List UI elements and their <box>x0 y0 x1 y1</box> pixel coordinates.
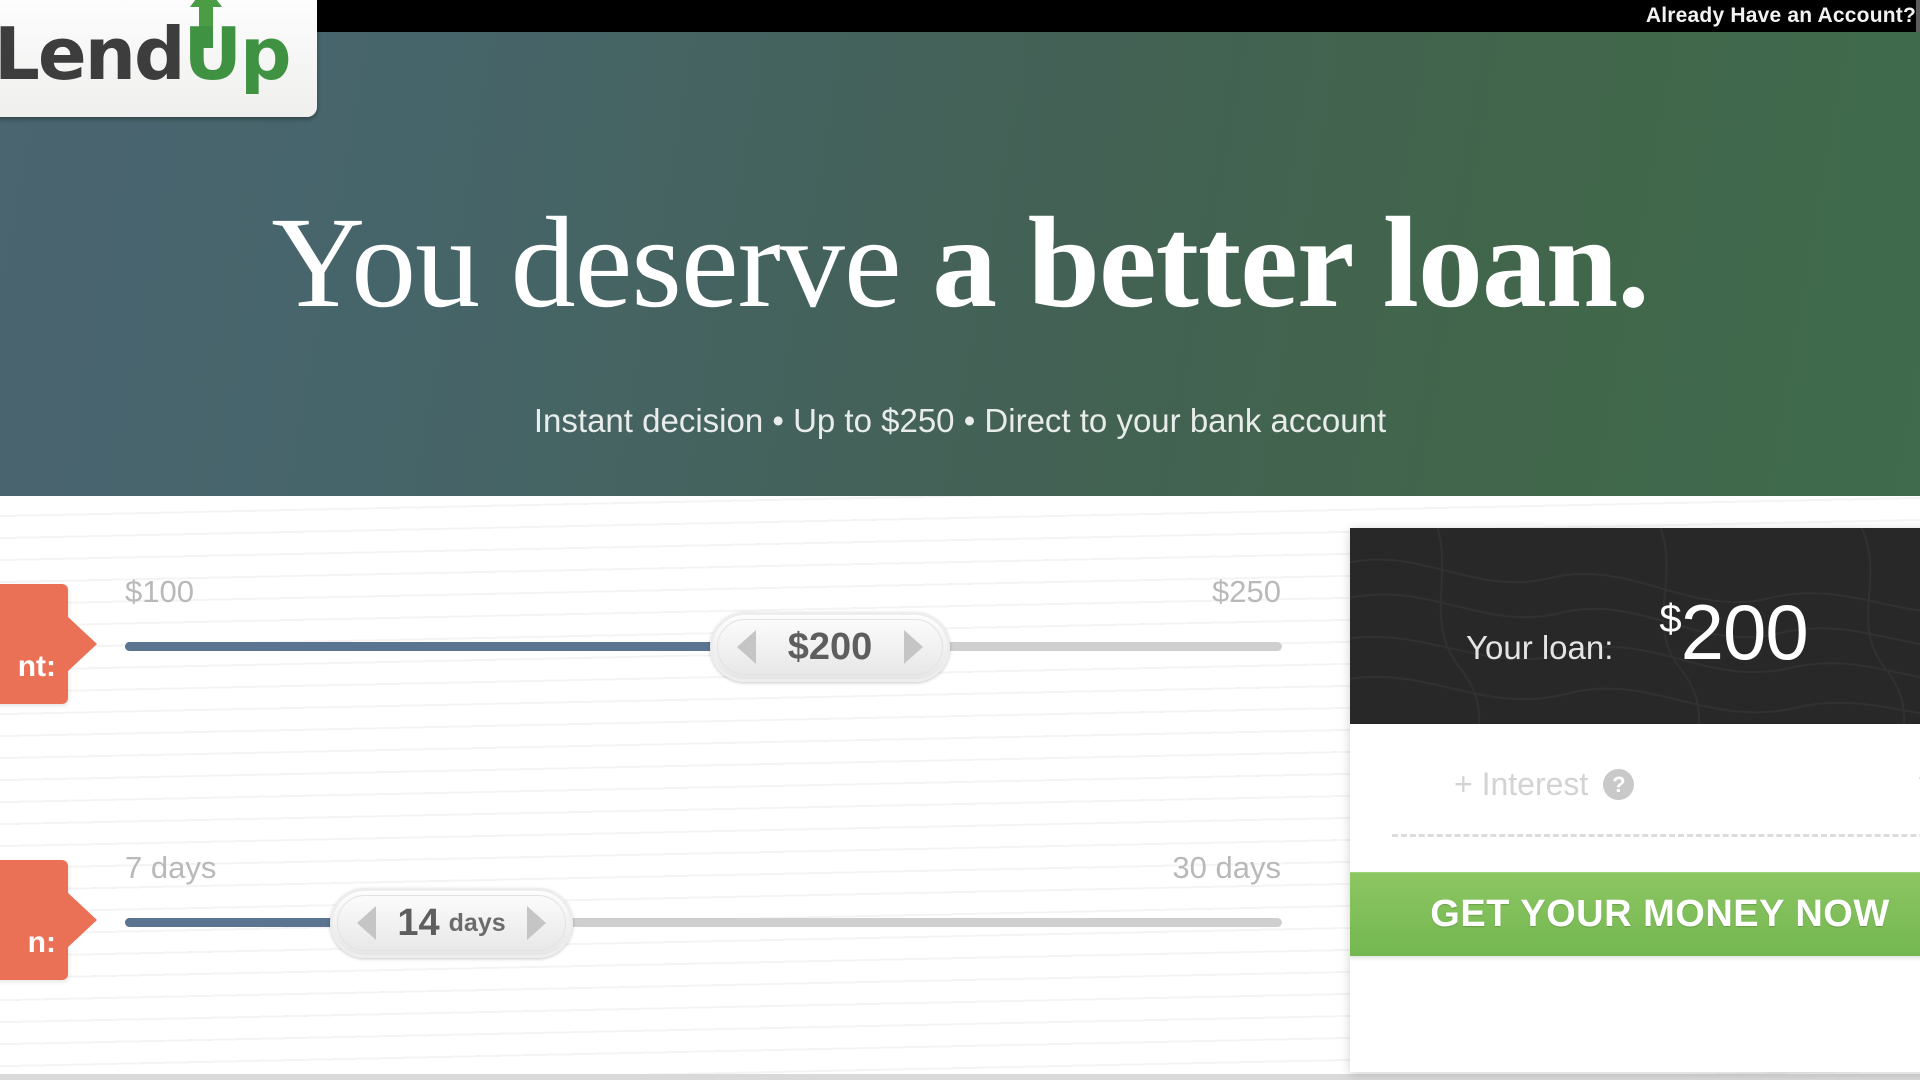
get-your-money-now-label: GET YOUR MONEY NOW <box>1430 893 1889 936</box>
loan-summary-header: Your loan: $200 <box>1350 528 1920 724</box>
loan-term-value: 14 <box>397 902 439 945</box>
question-mark-icon[interactable]: ? <box>1603 769 1634 800</box>
loan-term-slider-fill <box>125 918 343 927</box>
loan-term-max-label: 30 days <box>1172 850 1281 886</box>
hero-headline-bold: a better loan. <box>932 191 1649 335</box>
triangle-left-icon[interactable] <box>737 630 756 664</box>
summary-divider <box>1392 834 1920 837</box>
interest-label-group: + Interest ? <box>1454 766 1634 803</box>
your-loan-row: Your loan: $200 <box>1350 580 1920 671</box>
loan-term-slider-track[interactable] <box>125 918 1282 927</box>
logo-text-lend: Lend <box>0 12 184 96</box>
loan-term-tag-label: n: <box>28 926 56 960</box>
top-bar-right-edge <box>1916 0 1920 32</box>
triangle-right-icon[interactable] <box>527 906 546 940</box>
loan-amount-slider-track[interactable] <box>125 642 1282 651</box>
get-your-money-now-button[interactable]: GET YOUR MONEY NOW <box>1350 872 1920 956</box>
loan-term-tag: n: <box>0 860 68 980</box>
loan-amount-min-label: $100 <box>125 574 194 610</box>
loan-amount-tag-label: nt: <box>18 650 56 684</box>
calculator-bottom-divider <box>0 1074 1920 1080</box>
triangle-right-icon[interactable] <box>904 630 923 664</box>
your-loan-label: Your loan: <box>1466 629 1613 667</box>
page-root: Already Have an Account? LendUp You dese… <box>0 0 1920 1080</box>
loan-amount-slider-fill <box>125 642 735 651</box>
your-loan-amount-value: 200 <box>1681 588 1808 676</box>
interest-label: + Interest <box>1454 766 1588 803</box>
loan-summary-body: + Interest ? $30 Auto repayment Wed, Oct… <box>1350 724 1920 1014</box>
loan-term-slider-handle[interactable]: 14 days <box>330 888 573 958</box>
hero-headline-light: You deserve <box>271 191 932 335</box>
loan-amount-tag: nt: <box>0 584 68 704</box>
logo-wordmark: LendUp <box>0 14 290 94</box>
hero-subheadline: Instant decision • Up to $250 • Direct t… <box>0 402 1920 440</box>
logo[interactable]: LendUp <box>0 0 317 117</box>
triangle-left-icon[interactable] <box>357 906 376 940</box>
your-loan-amount: $200 <box>1659 580 1807 671</box>
loan-term-min-label: 7 days <box>125 850 216 886</box>
loan-amount-value: $200 <box>788 626 873 669</box>
interest-row: + Interest ? $30 <box>1350 754 1920 814</box>
currency-symbol: $ <box>1659 597 1680 641</box>
loan-term-unit: days <box>449 909 506 938</box>
hero-headline: You deserve a better loan. <box>0 198 1920 328</box>
loan-amount-max-label: $250 <box>1212 574 1281 610</box>
loan-amount-slider-handle[interactable]: $200 <box>710 612 950 682</box>
up-arrow-icon <box>189 0 223 48</box>
card-notch <box>1528 723 1580 724</box>
already-have-account-link[interactable]: Already Have an Account? <box>1646 0 1916 32</box>
loan-summary-card: Your loan: $200 + Interest ? $30 Auto re… <box>1350 528 1920 1072</box>
